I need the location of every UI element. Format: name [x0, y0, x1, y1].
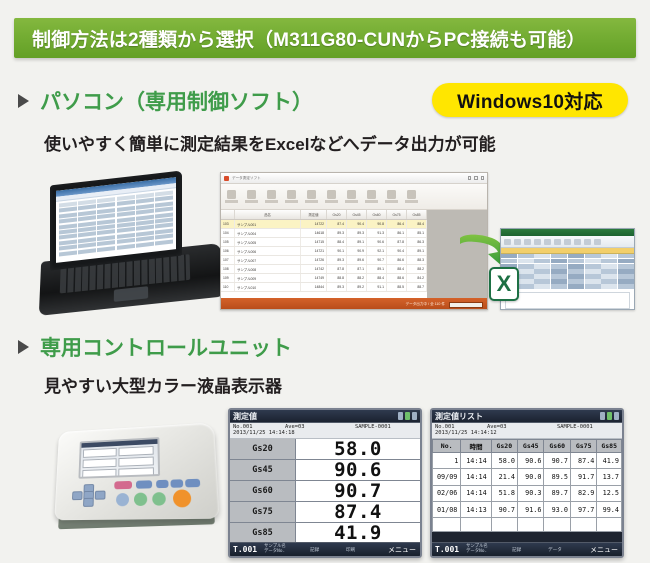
software-window-titlebar: データ測定ソフト: [221, 173, 487, 184]
table-row-empty: [433, 518, 622, 532]
unit-lcd-cells: [80, 444, 158, 479]
row-gs75: 86.4: [387, 220, 407, 228]
memory-icon: [398, 412, 403, 420]
row-gs60: 90.6: [367, 238, 387, 246]
row-gs60: 92.1: [367, 247, 387, 255]
cell-gs85: 99.4: [597, 501, 622, 517]
cell-gs20: 51.8: [491, 485, 517, 501]
lcd-values-footer: T.001 サンプル名 データNo. 記録 印刷 メニュー: [230, 542, 420, 556]
row-gs85: 89.1: [407, 247, 427, 255]
row-gs45: 89.6: [347, 256, 367, 264]
header-banner-text: 制御方法は2種類から選択（M311G80-CUNからPC接続も可能）: [32, 25, 586, 52]
table-row[interactable]: 105 サンプル005 14715 88.4 89.1 90.6 87.8 86…: [221, 238, 427, 247]
section-title-pc: パソコン（専用制御ソフト）: [40, 86, 313, 116]
row-gs60: 90.7: [367, 256, 387, 264]
toolbar-icon-exit[interactable]: [405, 190, 418, 203]
battery-icon: [607, 412, 612, 420]
lcd-values-body: Gs20 58.0 Gs45 90.6 Gs60 90.7 Gs75 87.4 …: [230, 439, 420, 544]
row-name: サンプル001: [235, 220, 301, 228]
cell-no: 1: [433, 452, 461, 468]
table-row[interactable]: 1 14:14 58.0 90.6 90.7 87.4 41.9: [433, 452, 622, 468]
cell-gs20: 21.4: [491, 469, 517, 485]
row-gs85: 88.2: [407, 265, 427, 273]
row-gs20: 88.4: [327, 238, 347, 246]
unit-lcd-screen: [78, 437, 160, 479]
excel-sheet-screenshot: [500, 228, 635, 310]
row-gs20: 88.8: [327, 274, 347, 282]
col-header-gs45: Gs45: [347, 210, 367, 219]
cell-gs45: 90.0: [518, 469, 544, 485]
row-no: 104: [221, 229, 235, 237]
unit-button-f3[interactable]: [152, 492, 166, 506]
col-header-name: 品名: [235, 210, 301, 219]
list-header-row: No. 時間 Gs20 Gs45 Gs60 Gs75 Gs85: [433, 439, 622, 452]
cell-gs85: 12.5: [597, 485, 622, 501]
cell-gs45: 91.6: [518, 501, 544, 517]
row-value: 14726: [301, 256, 327, 264]
unit-button-print[interactable]: [156, 480, 168, 488]
lcd-values-titlebar: 測定値: [230, 410, 420, 423]
cell-gs60: 90.7: [544, 452, 570, 468]
cell-time: 14:13: [461, 501, 491, 517]
row-gs60: 91.1: [367, 283, 387, 291]
cell-no: 02/06: [433, 485, 461, 501]
row-gs20: 87.8: [327, 265, 347, 273]
measurement-value: 87.4: [296, 502, 420, 522]
row-gs75: 88.6: [387, 274, 407, 282]
laptop-screen-grid: [56, 188, 176, 260]
cell-no: 01/08: [433, 501, 461, 517]
measurement-value: 90.6: [296, 460, 420, 480]
measurement-row: Gs85 41.9: [230, 523, 420, 544]
battery-icon: [405, 412, 410, 420]
unit-button-record[interactable]: [136, 480, 152, 488]
row-gs60: 88.4: [367, 274, 387, 282]
row-gs20: 90.1: [327, 247, 347, 255]
row-gs45: 90.4: [347, 220, 367, 228]
lcd-list-meta: No.001 Ave=03 SAMPLE-0001 2013/11/25 14:…: [432, 423, 622, 439]
lcd-values-sample: SAMPLE-0001: [355, 424, 417, 430]
unit-button-power[interactable]: [173, 489, 192, 507]
excel-titlebar: [501, 229, 634, 236]
toolbar-icon-settings[interactable]: [365, 190, 378, 203]
unit-button-f1[interactable]: [116, 493, 129, 506]
excel-grid[interactable]: [501, 254, 634, 289]
control-unit-photo: [40, 415, 225, 543]
row-gs20: 87.4: [327, 220, 347, 228]
row-gs85: 88.7: [407, 283, 427, 291]
toolbar-icon-help[interactable]: [385, 190, 398, 203]
row-value: 14844: [301, 283, 327, 291]
row-gs75: 90.4: [387, 247, 407, 255]
row-gs20: 89.3: [327, 256, 347, 264]
row-gs85: 88.4: [407, 220, 427, 228]
toolbar-icon-new[interactable]: [225, 190, 238, 203]
unit-button-data[interactable]: [170, 479, 183, 488]
row-no: 109: [221, 274, 235, 282]
row-name: サンプル009: [235, 274, 301, 282]
row-gs85: 85.1: [407, 229, 427, 237]
table-row[interactable]: 107 サンプル007 14726 89.3 89.6 90.7 86.6 88…: [221, 256, 427, 265]
table-row[interactable]: 106 サンプル006 14721 90.1 90.9 92.1 90.4 89…: [221, 247, 427, 256]
row-name: サンプル005: [235, 238, 301, 246]
table-row[interactable]: 109 サンプル009 14749 88.8 88.2 88.4 88.6 84…: [221, 274, 427, 283]
laptop-photo: [36, 178, 226, 310]
row-gs75: 88.4: [387, 265, 407, 273]
printer-icon: [412, 412, 417, 420]
cell-gs75: 82.9: [570, 485, 596, 501]
lcd-softkey-menu[interactable]: メニュー: [582, 545, 622, 555]
triangle-right-icon: [18, 340, 29, 354]
unit-button-f2[interactable]: [134, 492, 147, 506]
toolbar-icon-open[interactable]: [245, 190, 258, 203]
software-toolbar[interactable]: [221, 184, 487, 210]
cell-gs60: 89.7: [544, 485, 570, 501]
toolbar-icon-export[interactable]: [325, 190, 338, 203]
unit-housing: [54, 422, 219, 520]
table-row[interactable]: 103 サンプル001 14722 87.4 90.4 90.8 86.4 88…: [221, 220, 427, 229]
window-controls[interactable]: [468, 176, 484, 180]
cell-no: 09/09: [433, 469, 461, 485]
cell-time: 14:14: [461, 452, 491, 468]
row-value: 14618: [301, 229, 327, 237]
row-gs45: 87.1: [347, 265, 367, 273]
row-gs60: 91.3: [367, 229, 387, 237]
row-name: サンプル008: [235, 265, 301, 273]
table-row[interactable]: 104 サンプル004 14618 89.3 89.3 91.3 86.1 85…: [221, 229, 427, 238]
windows-compat-badge-label: Windows10対応: [457, 87, 603, 114]
lcd-softkey-1[interactable]: サンプル名 データNo.: [466, 545, 512, 555]
memory-icon: [600, 412, 605, 420]
row-gs60: 90.8: [367, 220, 387, 228]
row-no: 105: [221, 238, 235, 246]
lcd-softkey-menu[interactable]: メニュー: [380, 545, 420, 555]
row-name: サンプル010: [235, 283, 301, 291]
list-col-gs75: Gs75: [570, 439, 596, 452]
measurement-list-table[interactable]: No. 時間 Gs20 Gs45 Gs60 Gs75 Gs85 1 14:14 …: [432, 439, 622, 533]
lcd-list-sample: SAMPLE-0001: [557, 424, 619, 430]
section-title-unit: 専用コントロールユニット: [40, 332, 292, 362]
software-table-header: 品名 測定値 Gs20 Gs45 Gs60 Gs75 Gs85: [221, 210, 427, 220]
row-value: 14749: [301, 274, 327, 282]
row-gs45: 88.2: [347, 274, 367, 282]
row-no: 103: [221, 220, 235, 228]
section-subtitle-unit: 見やすい大型カラー液晶表示器: [44, 372, 282, 397]
list-col-no: No.: [433, 439, 461, 452]
row-gs75: 86.6: [387, 256, 407, 264]
row-gs85: 88.3: [407, 256, 427, 264]
printer-icon: [614, 412, 619, 420]
lcd-list-datetime: 2013/11/25 14:14:12: [435, 430, 497, 436]
toolbar-icon-measure[interactable]: [305, 190, 318, 203]
toolbar-icon-save[interactable]: [265, 190, 278, 203]
cell-gs75: 87.4: [570, 452, 596, 468]
table-row[interactable]: 108 サンプル008 14742 87.8 87.1 89.1 88.4 88…: [221, 265, 427, 274]
row-gs85: 84.2: [407, 274, 427, 282]
row-gs75: 87.8: [387, 238, 407, 246]
lcd-softkey-1[interactable]: サンプル名 データNo.: [264, 545, 310, 555]
measurement-value: 90.7: [296, 481, 420, 501]
col-header-gs60: Gs60: [367, 210, 387, 219]
col-header-gs75: Gs75: [387, 210, 407, 219]
measurement-value: 41.9: [296, 523, 420, 543]
lcd-values-meta: No.001 Ave=03 SAMPLE-0001 2013/11/25 14:…: [230, 423, 420, 439]
section-subtitle-pc: 使いやすく簡単に測定結果をExcelなどへデータ出力が可能: [44, 130, 496, 155]
measurement-row: Gs60 90.7: [230, 481, 420, 502]
row-gs45: 90.9: [347, 247, 367, 255]
cell-gs85: 13.7: [597, 469, 622, 485]
lcd-softkey-3[interactable]: 印刷: [346, 547, 380, 553]
row-value: 14722: [301, 220, 327, 228]
list-col-gs20: Gs20: [491, 439, 517, 452]
lcd-softkey-2[interactable]: 記録: [512, 547, 548, 553]
measurement-row: Gs75 87.4: [230, 502, 420, 523]
row-gs45: 89.1: [347, 238, 367, 246]
excel-empty-area: [505, 292, 630, 309]
lcd-list-ave: Ave=03: [487, 424, 557, 430]
toolbar-icon-graph[interactable]: [345, 190, 358, 203]
software-window-screenshot: データ測定ソフト 品名 測定値 Gs20 Gs45 Gs60 Gs75 Gs85: [220, 172, 488, 310]
row-gs45: 89.3: [347, 229, 367, 237]
row-name: サンプル007: [235, 256, 301, 264]
laptop-lid: [50, 170, 182, 270]
col-header-gs85: Gs85: [407, 210, 427, 219]
section-heading-pc: パソコン（専用制御ソフト）: [18, 86, 313, 116]
measurement-label: Gs60: [230, 481, 296, 501]
measurement-label: Gs85: [230, 523, 296, 543]
cell-gs75: 91.7: [570, 469, 596, 485]
cell-gs85: 41.9: [597, 452, 622, 468]
cell-gs45: 90.6: [518, 452, 544, 468]
table-row[interactable]: 110 サンプル010 14844 89.3 89.2 91.1 88.5 88…: [221, 283, 427, 292]
measurement-label: Gs75: [230, 502, 296, 522]
measurement-value: 58.0: [296, 439, 420, 459]
row-gs75: 88.5: [387, 283, 407, 291]
cell-gs75: 97.7: [570, 501, 596, 517]
cell-time: 14:14: [461, 485, 491, 501]
row-no: 106: [221, 247, 235, 255]
software-data-table[interactable]: 品名 測定値 Gs20 Gs45 Gs60 Gs75 Gs85 103 サンプル…: [221, 210, 427, 298]
measurement-row: Gs20 58.0: [230, 439, 420, 460]
lcd-values-code: T.001: [230, 545, 264, 554]
software-statusbar: データ出力中 / 全 110 件: [221, 298, 487, 310]
cell-gs60: 93.0: [544, 501, 570, 517]
excel-ribbon[interactable]: [501, 236, 634, 248]
unit-keypad[interactable]: [72, 479, 204, 508]
lcd-values-ave: Ave=03: [285, 424, 355, 430]
row-gs20: 89.3: [327, 229, 347, 237]
lcd-softkey-3[interactable]: データ: [548, 547, 582, 553]
row-gs60: 89.1: [367, 265, 387, 273]
toolbar-icon-print[interactable]: [285, 190, 298, 203]
row-gs75: 86.1: [387, 229, 407, 237]
row-no: 108: [221, 265, 235, 273]
cell-gs60: 89.5: [544, 469, 570, 485]
excel-icon-letter: X: [497, 273, 512, 295]
lcd-list-titlebar: 測定値リスト: [432, 410, 622, 423]
measurement-label: Gs45: [230, 460, 296, 480]
col-header-value: 測定値: [301, 210, 327, 219]
row-no: 110: [221, 283, 235, 291]
header-banner-bg: 制御方法は2種類から選択（M311G80-CUNからPC接続も可能）: [14, 18, 636, 58]
lcd-status-icons: [398, 412, 417, 420]
lcd-softkey-2[interactable]: 記録: [310, 547, 346, 553]
cell-time: 14:14: [461, 469, 491, 485]
lcd-status-icons: [600, 412, 619, 420]
header-banner: 制御方法は2種類から選択（M311G80-CUNからPC接続も可能）: [14, 18, 636, 58]
measurement-row: Gs45 90.6: [230, 460, 420, 481]
table-row[interactable]: 01/08 14:13 90.7 91.6 93.0 97.7 99.4: [433, 501, 622, 517]
software-window-body: 品名 測定値 Gs20 Gs45 Gs60 Gs75 Gs85 103 サンプル…: [221, 210, 487, 298]
table-row[interactable]: 02/06 14:14 51.8 90.3 89.7 82.9 12.5: [433, 485, 622, 501]
software-status-text: データ出力中 / 全 110 件: [406, 302, 445, 307]
progress-bar: [449, 302, 483, 308]
table-row[interactable]: 09/09 14:14 21.4 90.0 89.5 91.7 13.7: [433, 469, 622, 485]
windows-compat-badge: Windows10対応: [432, 83, 628, 117]
unit-button-measure[interactable]: [114, 481, 132, 489]
unit-dpad[interactable]: [72, 484, 107, 506]
row-value: 14715: [301, 238, 327, 246]
lcd-list-title: 測定値リスト: [435, 411, 483, 422]
triangle-right-icon: [18, 94, 29, 108]
excel-icon: X: [489, 267, 519, 301]
lcd-values-datetime: 2013/11/25 14:14:18: [233, 430, 295, 436]
list-col-time: 時間: [461, 439, 491, 452]
list-col-gs85: Gs85: [597, 439, 622, 452]
list-col-gs60: Gs60: [544, 439, 570, 452]
list-col-gs45: Gs45: [518, 439, 544, 452]
laptop-touchpad: [114, 286, 148, 302]
row-value: 14721: [301, 247, 327, 255]
unit-button-menu[interactable]: [185, 479, 200, 488]
row-name: サンプル004: [235, 229, 301, 237]
row-gs20: 89.3: [327, 283, 347, 291]
row-gs45: 89.2: [347, 283, 367, 291]
row-no: 107: [221, 256, 235, 264]
cell-gs20: 58.0: [491, 452, 517, 468]
col-header-gs20: Gs20: [327, 210, 347, 219]
lcd-list-footer: T.001 サンプル名 データNo. 記録 データ メニュー: [432, 542, 622, 556]
row-name: サンプル006: [235, 247, 301, 255]
row-value: 14742: [301, 265, 327, 273]
app-icon: [224, 176, 229, 181]
row-gs85: 86.3: [407, 238, 427, 246]
section-heading-unit: 専用コントロールユニット: [18, 332, 292, 362]
lcd-list-body: No. 時間 Gs20 Gs45 Gs60 Gs75 Gs85 1 14:14 …: [432, 439, 622, 533]
lcd-measurement-list: 測定値リスト No.001 Ave=03 SAMPLE-0001 2013/11…: [430, 408, 624, 558]
measurement-label: Gs20: [230, 439, 296, 459]
lcd-measurement-values: 測定値 No.001 Ave=03 SAMPLE-0001 2013/11/25…: [228, 408, 422, 558]
cell-gs20: 90.7: [491, 501, 517, 517]
lcd-list-code: T.001: [432, 545, 466, 554]
laptop-screen: [56, 177, 176, 263]
cell-gs45: 90.3: [518, 485, 544, 501]
lcd-values-title: 測定値: [233, 411, 257, 422]
software-window-title: データ測定ソフト: [232, 176, 465, 181]
